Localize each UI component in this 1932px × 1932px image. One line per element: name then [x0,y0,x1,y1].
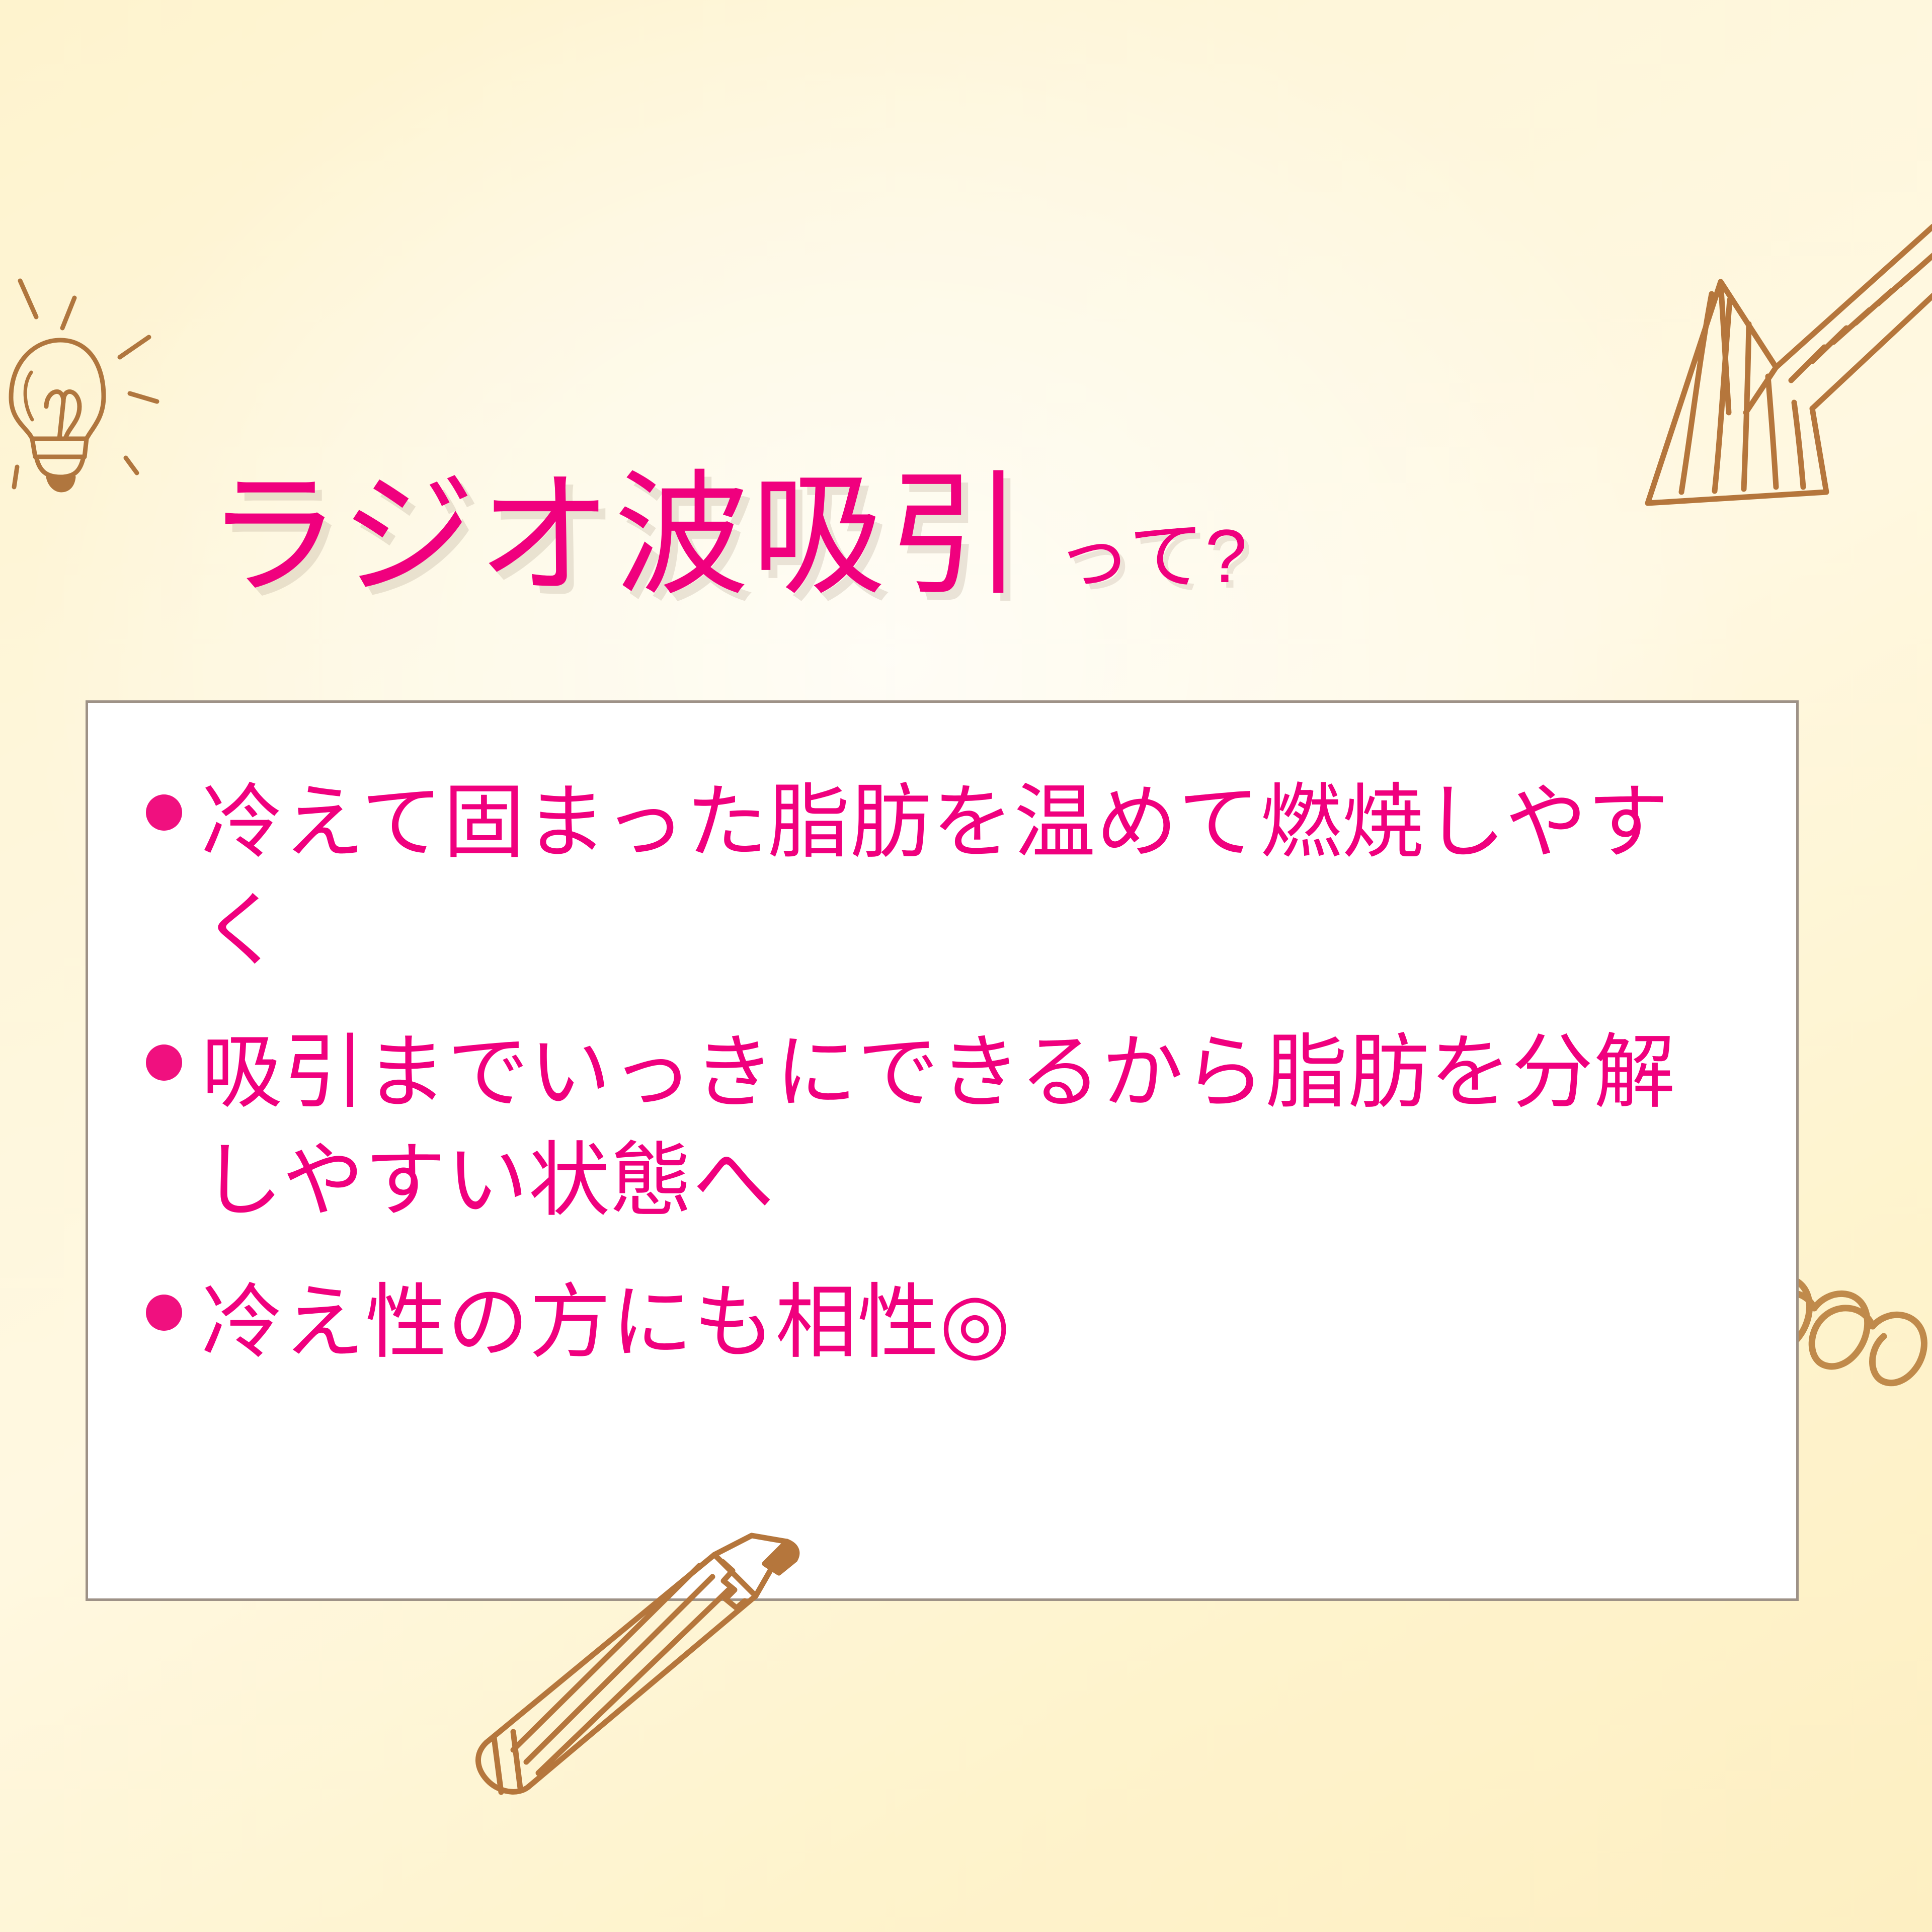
list-item-label: 吸引までいっきにできるから脂肪を分解しやすい状態へ [201,1018,1691,1235]
slide-canvas: ラジオ波吸引 って? 冷えて固まった脂肪を温めて燃焼しやすく 吸引までいっきにで… [0,0,1932,1932]
title-main-text: ラジオ波吸引 [206,468,1025,603]
bullet-dot-icon [146,794,182,831]
list-item: 吸引までいっきにできるから脂肪を分解しやすい状態へ [146,1018,1766,1235]
bullet-dot-icon [146,1044,182,1081]
striped-arrow-doodle-icon [1625,201,1932,513]
list-item-label: 冷えて固まった脂肪を温めて燃焼しやすく [201,768,1691,985]
list-item: 冷えて固まった脂肪を温めて燃焼しやすく [146,768,1766,985]
bullet-dot-icon [146,1295,182,1331]
list-item-label: 冷え性の方にも相性◎ [201,1268,1011,1377]
page-title: ラジオ波吸引 って? [206,468,1248,603]
bullet-list: 冷えて固まった脂肪を温めて燃焼しやすく 吸引までいっきにできるから脂肪を分解しや… [146,768,1766,1377]
content-panel: 冷えて固まった脂肪を温めて燃焼しやすく 吸引までいっきにできるから脂肪を分解しや… [86,700,1799,1601]
lightbulb-doodle-icon [0,221,211,493]
title-suffix-text: って? [1056,518,1248,594]
list-item: 冷え性の方にも相性◎ [146,1268,1766,1377]
